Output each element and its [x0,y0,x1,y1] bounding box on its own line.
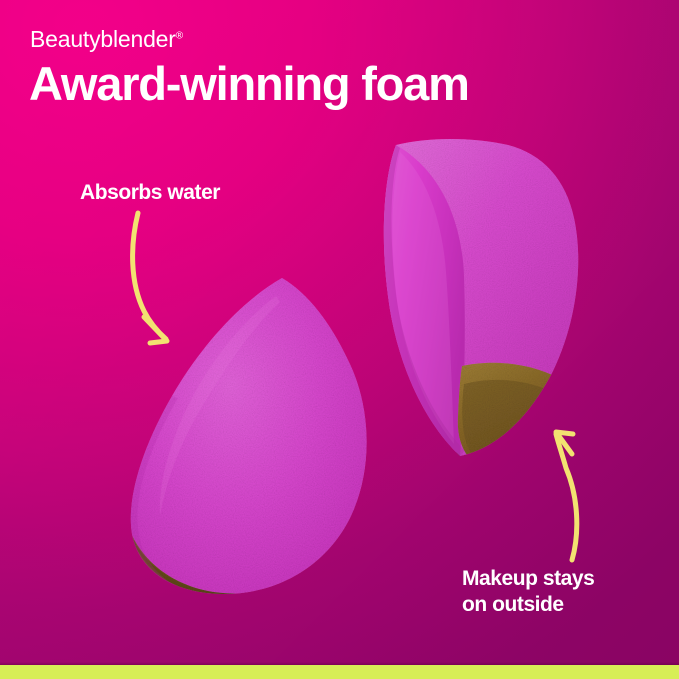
brand-name: Beautyblender® [30,28,183,51]
registered-trademark-mark: ® [176,30,183,41]
brand-name-text: Beautyblender [30,26,176,52]
marketing-image: Beautyblender® Award-winning foam Absorb… [0,0,679,679]
callout-label-makeup-stays-on-outside: Makeup stays on outside [462,566,594,617]
brand-accent-bar [0,665,679,679]
beauty-sponge-cross-section [378,136,598,466]
page-title: Award-winning foam [29,58,469,111]
callout-label-absorbs-water: Absorbs water [80,180,220,206]
beauty-sponge-whole [110,272,375,602]
